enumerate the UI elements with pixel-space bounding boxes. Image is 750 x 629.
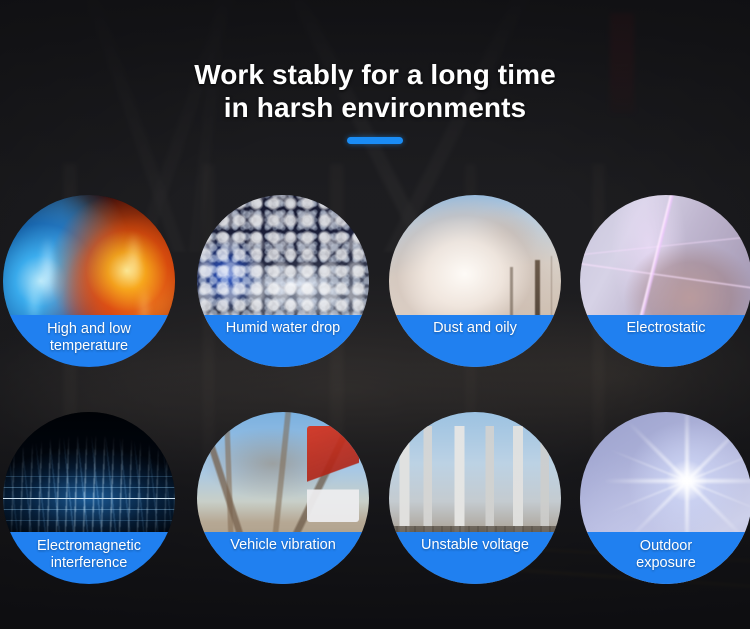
feature-label-line-1: Outdoor bbox=[640, 538, 692, 555]
feature-label: Dust and oily bbox=[389, 315, 561, 367]
feature-circle-dust-and-oily[interactable]: Dust and oily bbox=[389, 195, 561, 367]
feature-label-line-1: Electromagnetic bbox=[37, 538, 141, 555]
feature-label: Humid water drop bbox=[197, 315, 369, 367]
feature-label: Vehicle vibration bbox=[197, 532, 369, 584]
feature-label: High and low temperature bbox=[3, 315, 175, 367]
feature-circle-unstable-voltage[interactable]: Unstable voltage bbox=[389, 412, 561, 584]
feature-circle-grid: High and low temperature Humid water dro… bbox=[0, 195, 750, 629]
feature-label-line-1: High and low bbox=[47, 321, 131, 338]
heading-line-2: in harsh environments bbox=[0, 91, 750, 124]
feature-label: Electromagnetic interference bbox=[3, 532, 175, 584]
feature-label-line-2: exposure bbox=[636, 555, 696, 572]
feature-label-line-1: Unstable voltage bbox=[421, 537, 529, 554]
feature-label-line-1: Humid water drop bbox=[226, 320, 340, 337]
feature-circle-humid-water-drop[interactable]: Humid water drop bbox=[197, 195, 369, 367]
feature-label-line-2: interference bbox=[51, 555, 128, 572]
feature-label-line-1: Dust and oily bbox=[433, 320, 517, 337]
harsh-environment-banner: Work stably for a long time in harsh env… bbox=[0, 0, 750, 629]
heading-line-1: Work stably for a long time bbox=[0, 58, 750, 91]
feature-label-line-1: Electrostatic bbox=[627, 320, 706, 337]
feature-label: Outdoor exposure bbox=[580, 532, 750, 584]
feature-label: Electrostatic bbox=[580, 315, 750, 367]
feature-label: Unstable voltage bbox=[389, 532, 561, 584]
feature-label-line-2: temperature bbox=[50, 338, 128, 355]
feature-row-2: Electromagnetic interference Vehicle vib… bbox=[0, 412, 750, 580]
feature-row-1: High and low temperature Humid water dro… bbox=[0, 195, 750, 363]
banner-heading: Work stably for a long time in harsh env… bbox=[0, 58, 750, 144]
feature-circle-electrostatic[interactable]: Electrostatic bbox=[580, 195, 750, 367]
feature-circle-electromagnetic-interference[interactable]: Electromagnetic interference bbox=[3, 412, 175, 584]
feature-circle-outdoor-exposure[interactable]: Outdoor exposure bbox=[580, 412, 750, 584]
feature-label-line-1: Vehicle vibration bbox=[230, 537, 336, 554]
heading-accent-rule bbox=[347, 137, 403, 144]
feature-circle-vehicle-vibration[interactable]: Vehicle vibration bbox=[197, 412, 369, 584]
feature-circle-high-and-low-temperature[interactable]: High and low temperature bbox=[3, 195, 175, 367]
